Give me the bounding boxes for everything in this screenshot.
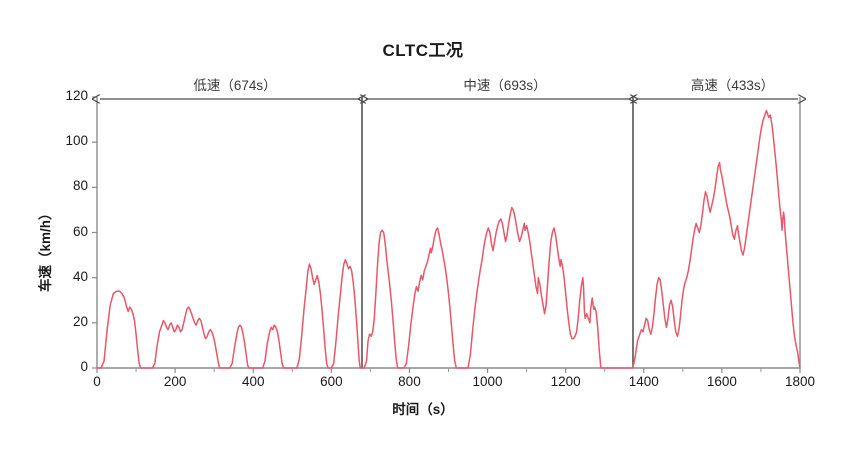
segment-dividers bbox=[362, 97, 633, 368]
plot-canvas bbox=[0, 0, 846, 463]
speed-profile-line bbox=[97, 111, 800, 368]
cltc-drive-cycle-chart: CLTC工况 车速（km/h） 时间（s） 020406080100120 02… bbox=[0, 0, 846, 463]
x-axis-ticks bbox=[97, 368, 800, 373]
y-axis-ticks bbox=[92, 97, 97, 368]
